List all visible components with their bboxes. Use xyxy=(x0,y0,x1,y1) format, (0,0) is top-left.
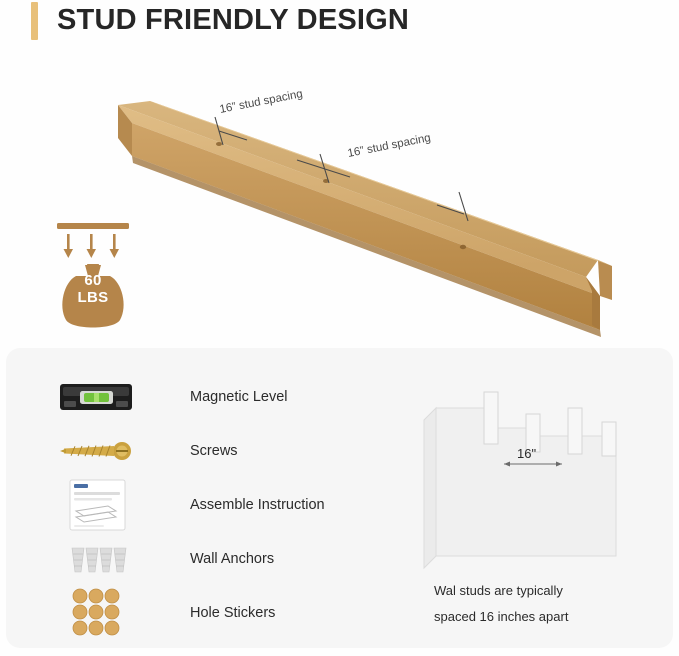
header: STUD FRIENDLY DESIGN xyxy=(0,0,679,44)
product-infographic: STUD FRIENDLY DESIGN xyxy=(0,0,679,656)
list-item: Wall Anchors xyxy=(50,532,380,586)
list-item: Assemble Instruction xyxy=(50,478,380,532)
stud-wall-caption: Wal studs are typically spaced 16 inches… xyxy=(434,578,664,630)
accessory-label: Wall Anchors xyxy=(190,532,274,586)
instruction-sheet-icon xyxy=(50,478,142,532)
list-item: Magnetic Level xyxy=(50,370,380,424)
weight-unit: LBS xyxy=(52,289,134,306)
weight-value-text: 60 LBS xyxy=(52,272,134,306)
screw-hole-3 xyxy=(460,245,466,249)
accessory-label: Hole Stickers xyxy=(190,586,275,640)
caption-line-1: Wal studs are typically xyxy=(434,578,664,604)
caption-line-2: spaced 16 inches apart xyxy=(434,604,664,630)
stud-wall-graphic xyxy=(406,378,656,578)
accessories-panel: Magnetic Level xyxy=(6,348,673,648)
level-tool-icon xyxy=(50,370,142,424)
accessory-label: Assemble Instruction xyxy=(190,478,325,532)
stud-wall-diagram: 16" xyxy=(406,378,656,578)
hole-sticker-icon xyxy=(50,586,142,640)
mount-bar xyxy=(57,223,129,229)
page-title: STUD FRIENDLY DESIGN xyxy=(57,0,409,40)
accessory-label: Screws xyxy=(190,424,238,478)
screw-hole-1 xyxy=(216,142,222,146)
weight-number: 60 xyxy=(52,272,134,289)
down-arrows xyxy=(64,234,120,258)
stud-spacing-dimension: 16" xyxy=(517,446,536,461)
accessories-list: Magnetic Level xyxy=(50,370,380,640)
shelf-illustration-area: 16” stud spacing 16” stud spacing xyxy=(0,44,679,344)
wall-anchor-icon xyxy=(50,532,142,586)
list-item: Screws xyxy=(50,424,380,478)
list-item: Hole Stickers xyxy=(50,586,380,640)
accessory-label: Magnetic Level xyxy=(190,370,288,424)
screw-icon xyxy=(50,424,142,478)
header-accent-bar xyxy=(31,2,38,40)
